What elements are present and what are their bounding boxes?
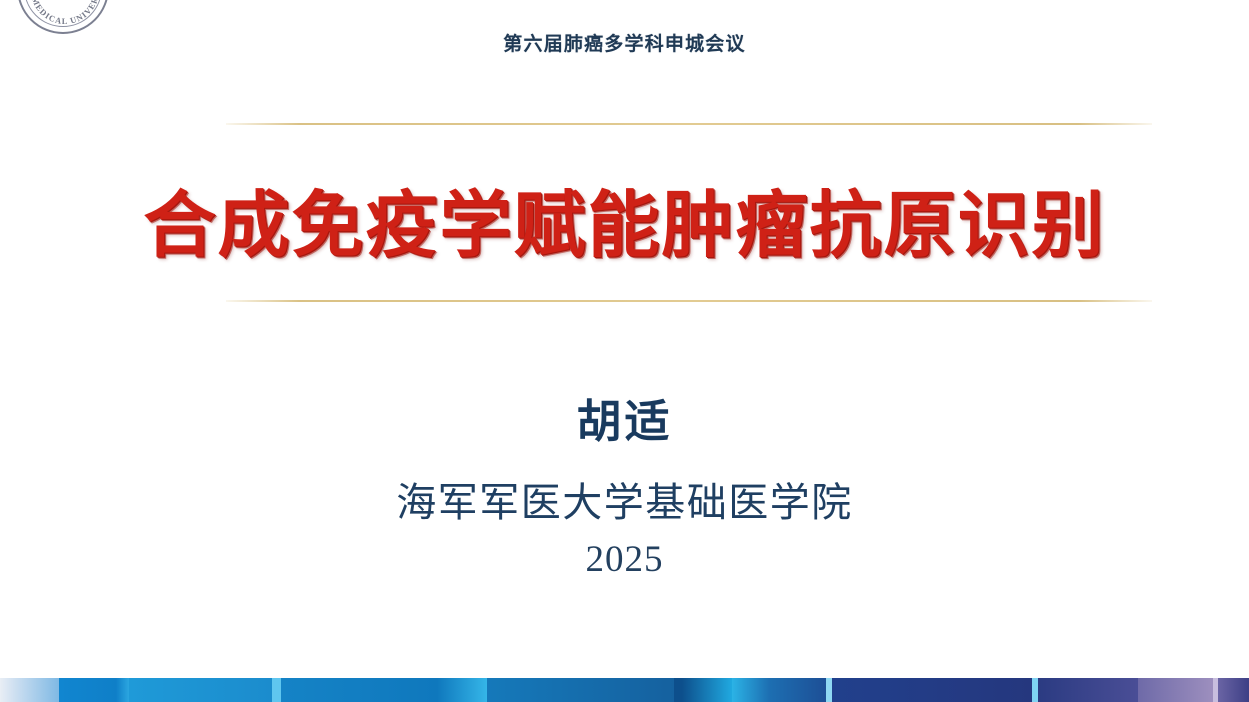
band-segment (437, 678, 487, 702)
band-segment (59, 678, 116, 702)
gold-rule-top (226, 123, 1152, 125)
speaker-name: 胡适 (0, 385, 1249, 450)
band-segment (272, 678, 281, 702)
band-segment (1038, 678, 1138, 702)
band-segment (769, 678, 825, 702)
decorative-gradient-band (0, 678, 1249, 702)
svg-text:MEDICAL UNIVERSITY: MEDICAL UNIVERSITY (19, 0, 101, 26)
speaker-affiliation: 海军军医大学基础医学院 (0, 470, 1249, 528)
presentation-year: 2025 (0, 538, 1249, 581)
band-segment (0, 678, 14, 702)
band-segment (116, 678, 128, 702)
conference-header: 第六届肺癌多学科申城会议 (0, 29, 1249, 56)
band-segment (1138, 678, 1213, 702)
band-segment (1218, 678, 1249, 702)
gold-rule-bottom (226, 300, 1152, 302)
band-segment (832, 678, 1032, 702)
band-segment (732, 678, 769, 702)
band-segment (674, 678, 681, 702)
band-segment (14, 678, 59, 702)
band-segment (487, 678, 674, 702)
band-segment (682, 678, 732, 702)
band-segment (129, 678, 273, 702)
presentation-slide: MEDICAL UNIVERSITY 第六届肺癌多学科申城会议 合成免疫学赋能肿… (0, 0, 1249, 702)
band-segment (281, 678, 437, 702)
slide-title: 合成免疫学赋能肿瘤抗原识别 (0, 166, 1249, 271)
